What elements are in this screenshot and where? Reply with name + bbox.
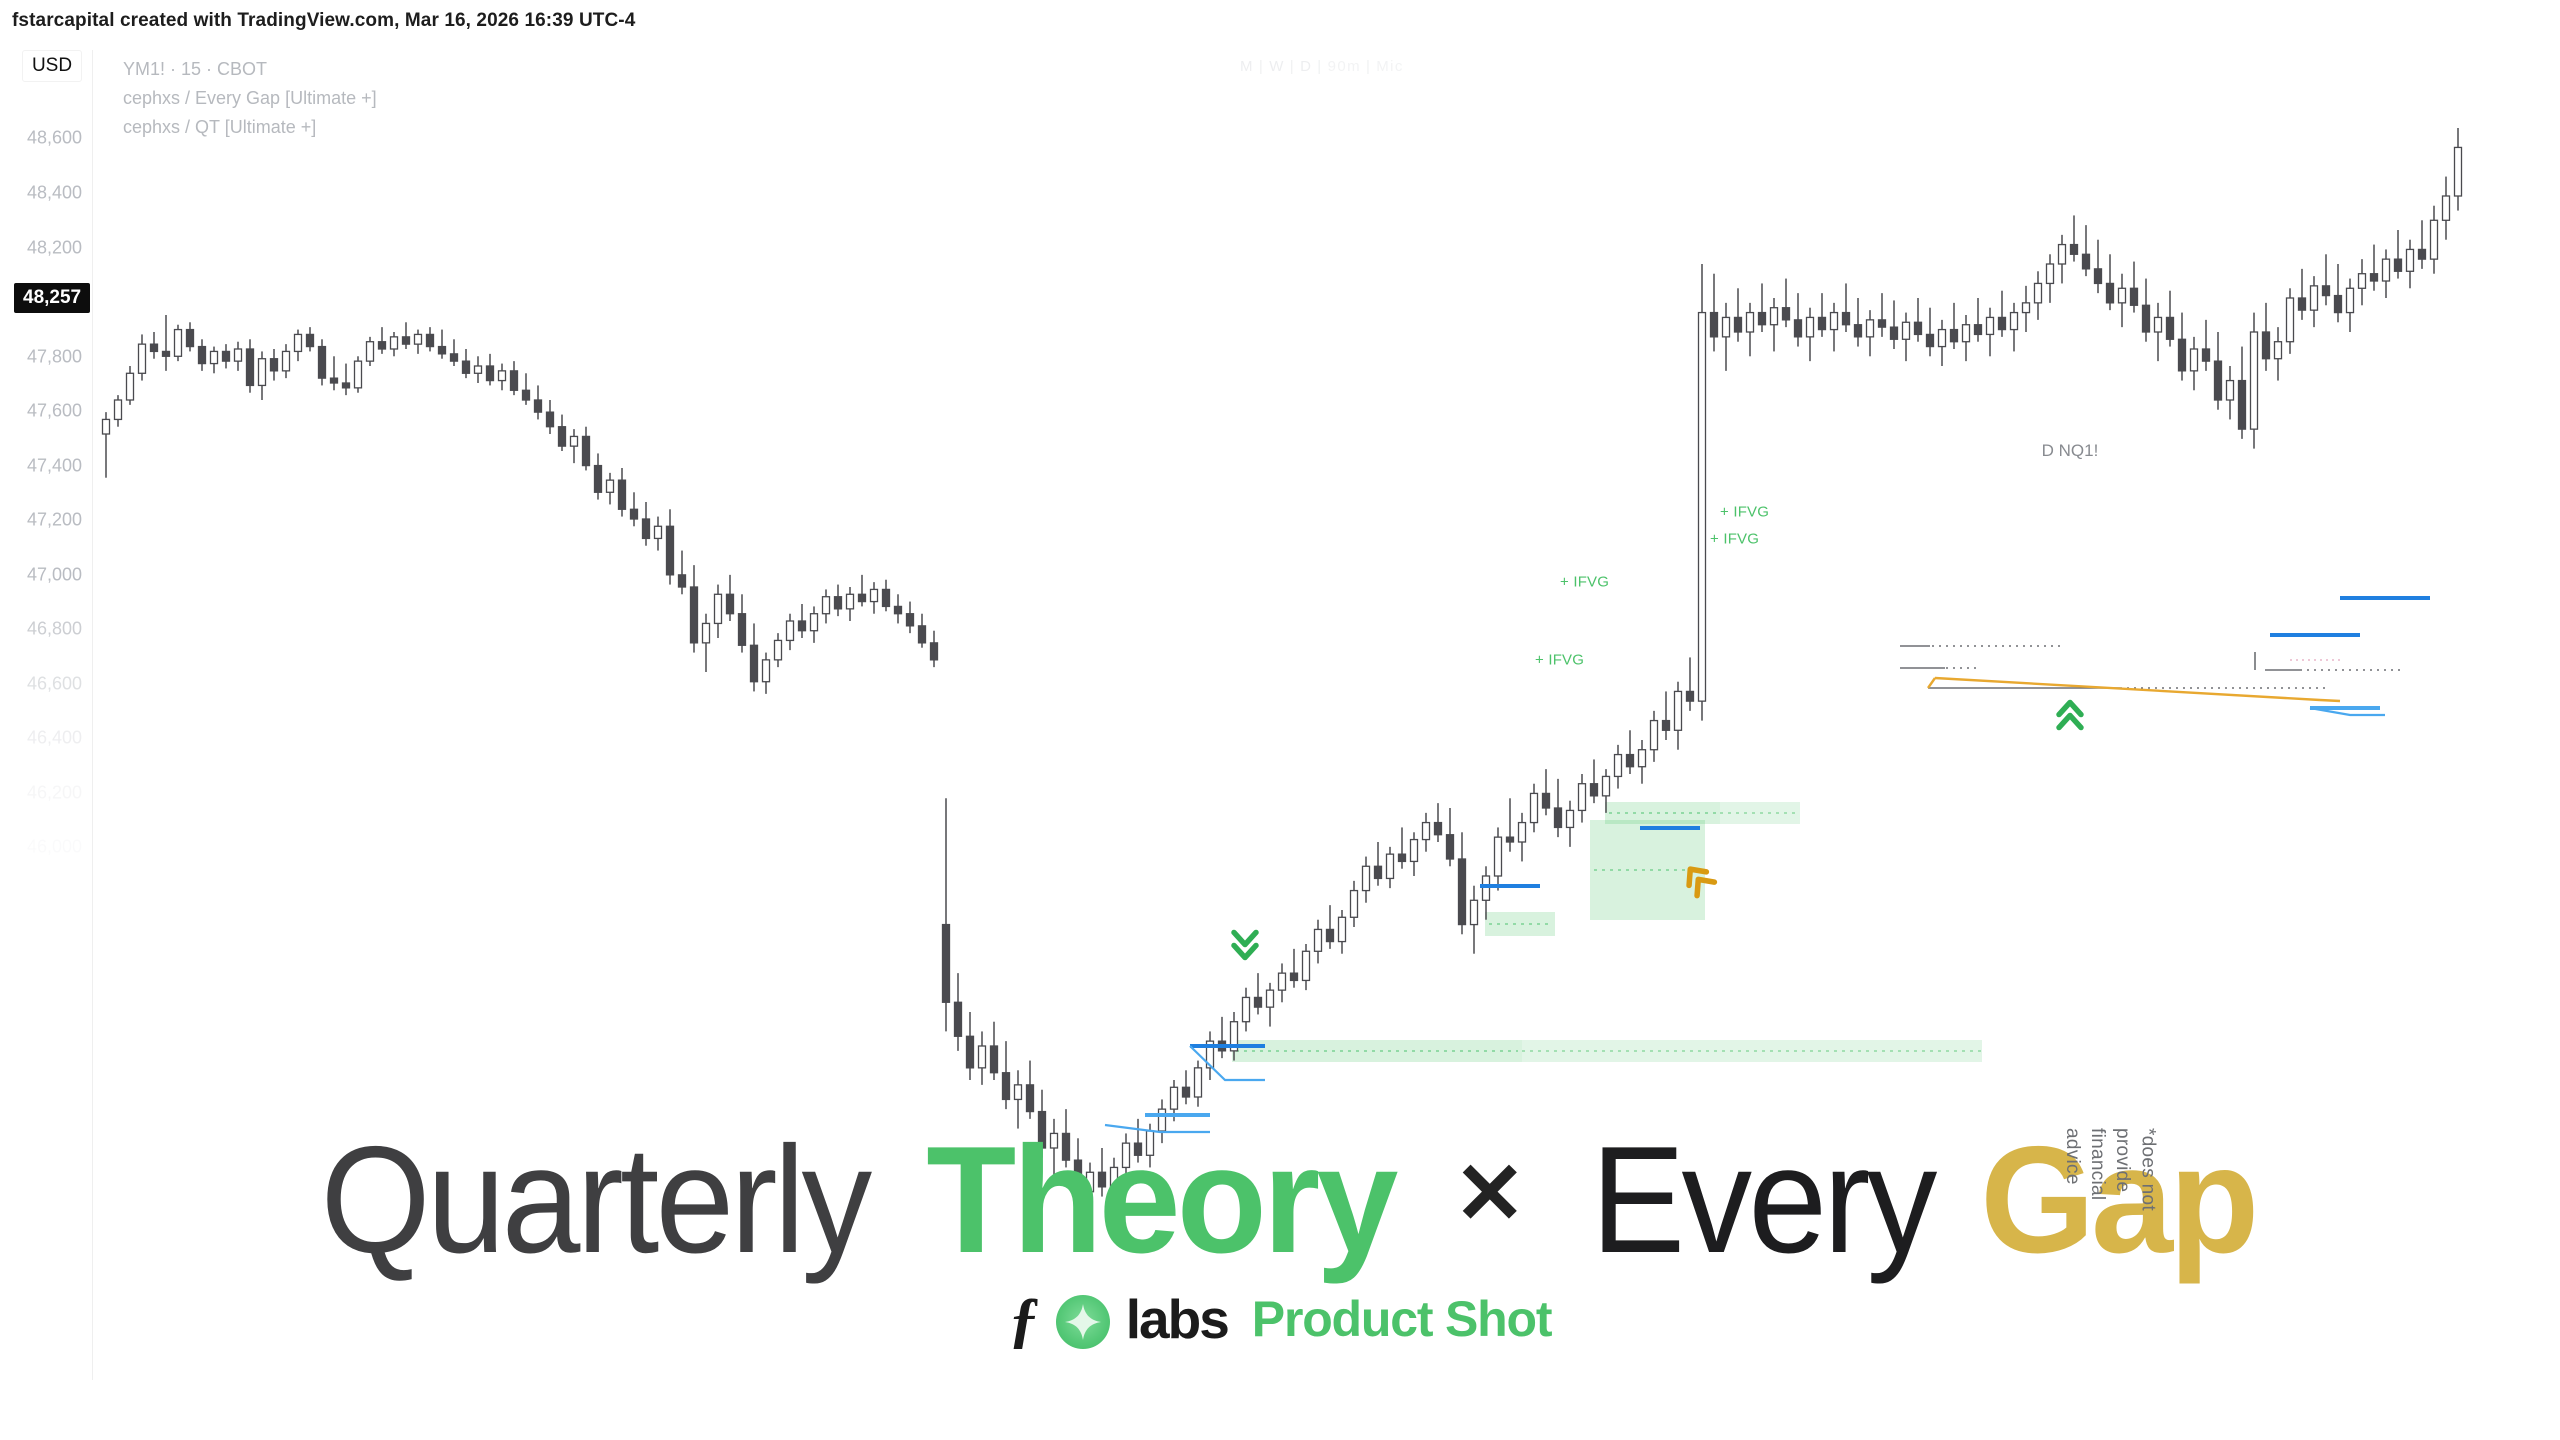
candle-body (175, 330, 182, 357)
candle-body (2179, 339, 2186, 371)
trendline-head (1928, 678, 1935, 688)
candle-body (1723, 317, 1730, 336)
candle-body (703, 623, 710, 642)
candle-body (1339, 917, 1346, 941)
candle-body (691, 587, 698, 643)
candle-body (595, 466, 602, 493)
candle-body (2131, 288, 2138, 305)
candle-body (1903, 322, 1910, 339)
brand-lockup: ƒ labs Product Shot (0, 1288, 2560, 1356)
candle-body (2263, 332, 2270, 359)
candle-body (2071, 245, 2078, 255)
gap-lines (1145, 598, 2430, 1115)
candle-body (1471, 900, 1478, 924)
candle-body (2095, 269, 2102, 284)
candle-body (883, 589, 890, 606)
candle-body (1519, 823, 1526, 842)
candle-body (823, 597, 830, 614)
candle-body (259, 359, 266, 386)
candle-body (1687, 691, 1694, 701)
candle-body (895, 606, 902, 613)
swing-lines (1105, 708, 2385, 1132)
candle-body (1543, 793, 1550, 808)
candle-body (1807, 317, 1814, 336)
candle-body (127, 373, 134, 400)
candle-body (547, 412, 554, 427)
candle-body (1567, 810, 1574, 827)
candle-body (859, 594, 866, 601)
candle-body (1963, 325, 1970, 342)
tradingview-credit-line: fstarcapital created with TradingView.co… (12, 10, 635, 32)
candle-body (1987, 317, 1994, 334)
candle-body (523, 390, 530, 400)
candle-body (2251, 332, 2258, 429)
candle-body (2443, 196, 2450, 220)
candle-body (607, 480, 614, 492)
candle-body (751, 645, 758, 681)
candle-body (343, 383, 350, 388)
candle-body (1015, 1085, 1022, 1100)
candle-body (1579, 784, 1586, 811)
candle-body (163, 351, 170, 356)
candle-body (511, 371, 518, 390)
candle-body (2275, 342, 2282, 359)
candle-body (2383, 259, 2390, 281)
candle-body (871, 589, 878, 601)
candle-body (1759, 313, 1766, 325)
candle-body (1855, 325, 1862, 337)
candle-body (847, 594, 854, 609)
candle-body (631, 509, 638, 519)
candle-body (2227, 381, 2234, 400)
candle-body (2167, 317, 2174, 339)
title-word-every: Every (1591, 1124, 1934, 1276)
candle-body (2107, 283, 2114, 302)
chevron-up-icon (2059, 702, 2081, 727)
chevron-stroke (2059, 715, 2081, 727)
candle-body (1999, 317, 2006, 329)
candle-body (1507, 837, 1514, 842)
candle-body (1483, 876, 1490, 900)
title-cross-icon: ✕ (1454, 1144, 1526, 1244)
candle-body (979, 1046, 986, 1068)
candle-body (139, 344, 146, 373)
candle-body (667, 526, 674, 575)
candle-body (1711, 313, 1718, 337)
candle-body (487, 366, 494, 381)
candle-body (739, 614, 746, 646)
structure-lines (1900, 646, 2400, 688)
trendline-tail (2320, 700, 2340, 701)
candle-body (1291, 973, 1298, 980)
candle-body (1831, 313, 1838, 330)
candle-body (1411, 840, 1418, 862)
candle-body (247, 349, 254, 385)
fvg-box (1485, 912, 1555, 936)
candle-body (1915, 322, 1922, 334)
candle-body (1387, 854, 1394, 878)
candle-body (1747, 313, 1754, 332)
candle-body (787, 621, 794, 640)
candle-body (955, 1002, 962, 1036)
ifvg-label: + IFVG (1720, 504, 1769, 521)
candle-body (475, 366, 482, 373)
title-word-quarterly: Quarterly (321, 1124, 869, 1276)
candle-body (1675, 691, 1682, 730)
trendline (1935, 678, 2320, 700)
candle-body (1735, 317, 1742, 332)
candle-body (1819, 317, 1826, 329)
tradingview-chart-screenshot: fstarcapital created with TradingView.co… (0, 0, 2560, 1440)
candle-body (907, 614, 914, 626)
candle-body (1363, 866, 1370, 890)
candle-body (1003, 1073, 1010, 1100)
candle-body (1243, 997, 1250, 1021)
candle-body (2311, 286, 2318, 310)
candle-body (499, 371, 506, 381)
candle-body (2047, 264, 2054, 283)
candle-body (151, 344, 158, 351)
candle-body (715, 594, 722, 623)
candle-body (427, 334, 434, 346)
candle-body (1639, 750, 1646, 767)
candle-body (403, 337, 410, 344)
candle-body (775, 640, 782, 659)
candle-body (2371, 274, 2378, 281)
candle-body (1183, 1087, 1190, 1097)
candle-body (103, 419, 110, 434)
candle-body (811, 614, 818, 631)
candle-body (223, 351, 230, 361)
candle-body (931, 643, 938, 660)
candle-body (1843, 313, 1850, 325)
sparkle-icon (1056, 1295, 1110, 1349)
candle-body (1375, 866, 1382, 878)
candle-body (1627, 755, 1634, 767)
candle-body (355, 361, 362, 388)
candle-body (1255, 997, 1262, 1007)
candle-body (1459, 859, 1466, 925)
candle-body (115, 400, 122, 419)
candle-body (367, 342, 374, 361)
disclaimer-text: *does not provide financial advice (2060, 1128, 2160, 1233)
candle-body (1435, 823, 1442, 835)
candle-body (391, 337, 398, 349)
candle-body (559, 427, 566, 446)
candle-body (1327, 929, 1334, 941)
candle-body (1699, 313, 1706, 702)
candle-body (211, 351, 218, 363)
chevron-stroke (1234, 932, 1256, 944)
candle-body (2155, 317, 2162, 332)
candle-body (2431, 220, 2438, 259)
candle-body (187, 330, 194, 347)
candle-body (2359, 274, 2366, 289)
candle-body (2119, 288, 2126, 303)
candle-body (1651, 721, 1658, 750)
candle-body (967, 1036, 974, 1068)
candle-body (379, 342, 386, 349)
candle-body (2191, 349, 2198, 371)
candle-body (643, 519, 650, 538)
ifvg-label: + IFVG (1710, 531, 1759, 548)
candle-body (283, 351, 290, 370)
candle-body (1603, 776, 1610, 795)
candle-body (2347, 288, 2354, 312)
candle-body (235, 349, 242, 361)
candle-body (271, 359, 278, 371)
candle-body (919, 626, 926, 643)
title-word-theory: Theory (926, 1124, 1394, 1276)
candle-body (619, 480, 626, 509)
candle-body (1771, 308, 1778, 325)
candle-body (415, 334, 422, 344)
candle-body (2083, 254, 2090, 269)
candle-body (1315, 929, 1322, 951)
candle-body (1267, 990, 1274, 1007)
candle-body (2035, 283, 2042, 302)
candle-body (2335, 296, 2342, 313)
candle-body (799, 621, 806, 631)
candle-body (1399, 854, 1406, 861)
candle-body (1279, 973, 1286, 990)
candle-body (2059, 245, 2066, 264)
candle-body (1879, 320, 1886, 327)
overlay-title: Quarterly Theory ✕ Every Gap (0, 1105, 2560, 1295)
candle-body (2203, 349, 2210, 361)
f-mark-icon: ƒ (1009, 1289, 1040, 1351)
candle-body (535, 400, 542, 412)
candle-body (835, 597, 842, 609)
candle-body (727, 594, 734, 613)
candle-body (2395, 259, 2402, 271)
candle-body (1555, 808, 1562, 827)
sparkle-glyph (1063, 1302, 1103, 1342)
candle-body (2215, 361, 2222, 400)
fvg-extension (1522, 1040, 1982, 1062)
candle-body (583, 436, 590, 465)
candle-body (1795, 320, 1802, 337)
candle-body (1351, 891, 1358, 918)
candle-body (307, 334, 314, 346)
candle-body (571, 436, 578, 446)
candle-body (679, 575, 686, 587)
candle-body (1195, 1068, 1202, 1097)
candle-body (1531, 793, 1538, 822)
candle-body (451, 354, 458, 361)
candle-body (1663, 721, 1670, 731)
candle-body (439, 347, 446, 354)
candle-body (2011, 313, 2018, 330)
candle-body (2239, 381, 2246, 430)
source-symbol-label: D NQ1! (2042, 441, 2099, 461)
candle-body (2299, 298, 2306, 310)
candle-body (1939, 330, 1946, 347)
candle-body (655, 526, 662, 538)
candle-body (463, 361, 470, 373)
candle-body (1867, 320, 1874, 337)
product-shot-tagline: Product Shot (1252, 1294, 1551, 1344)
candle-body (1783, 308, 1790, 320)
candle-body (2023, 303, 2030, 313)
ifvg-label: + IFVG (1535, 652, 1584, 669)
candle-body (295, 334, 302, 351)
candle-body (2407, 249, 2414, 271)
candle-body (1423, 823, 1430, 840)
candle-body (1447, 835, 1454, 859)
candle-body (2455, 147, 2462, 196)
candle-body (2323, 286, 2330, 296)
candle-body (991, 1046, 998, 1073)
candle-body (1495, 837, 1502, 876)
candle-body (1951, 330, 1958, 342)
candle-body (2143, 305, 2150, 332)
candle-body (2419, 249, 2426, 259)
labs-wordmark: labs (1126, 1292, 1228, 1347)
candle-body (1975, 325, 1982, 335)
candle-body (1303, 951, 1310, 980)
candle-body (1891, 327, 1898, 339)
candle-body (199, 347, 206, 364)
candle-body (943, 925, 950, 1003)
chevron-down-icon (1234, 932, 1256, 957)
candle-body (1591, 784, 1598, 796)
candle-body (763, 660, 770, 682)
candle-body (1615, 755, 1622, 777)
candle-body (319, 347, 326, 379)
orange-trendline (1928, 678, 2340, 701)
candle-body (331, 378, 338, 383)
fvg-boxes (1232, 802, 1720, 1062)
ifvg-label: + IFVG (1560, 574, 1609, 591)
candle-body (1927, 334, 1934, 346)
candle-body (2287, 298, 2294, 342)
